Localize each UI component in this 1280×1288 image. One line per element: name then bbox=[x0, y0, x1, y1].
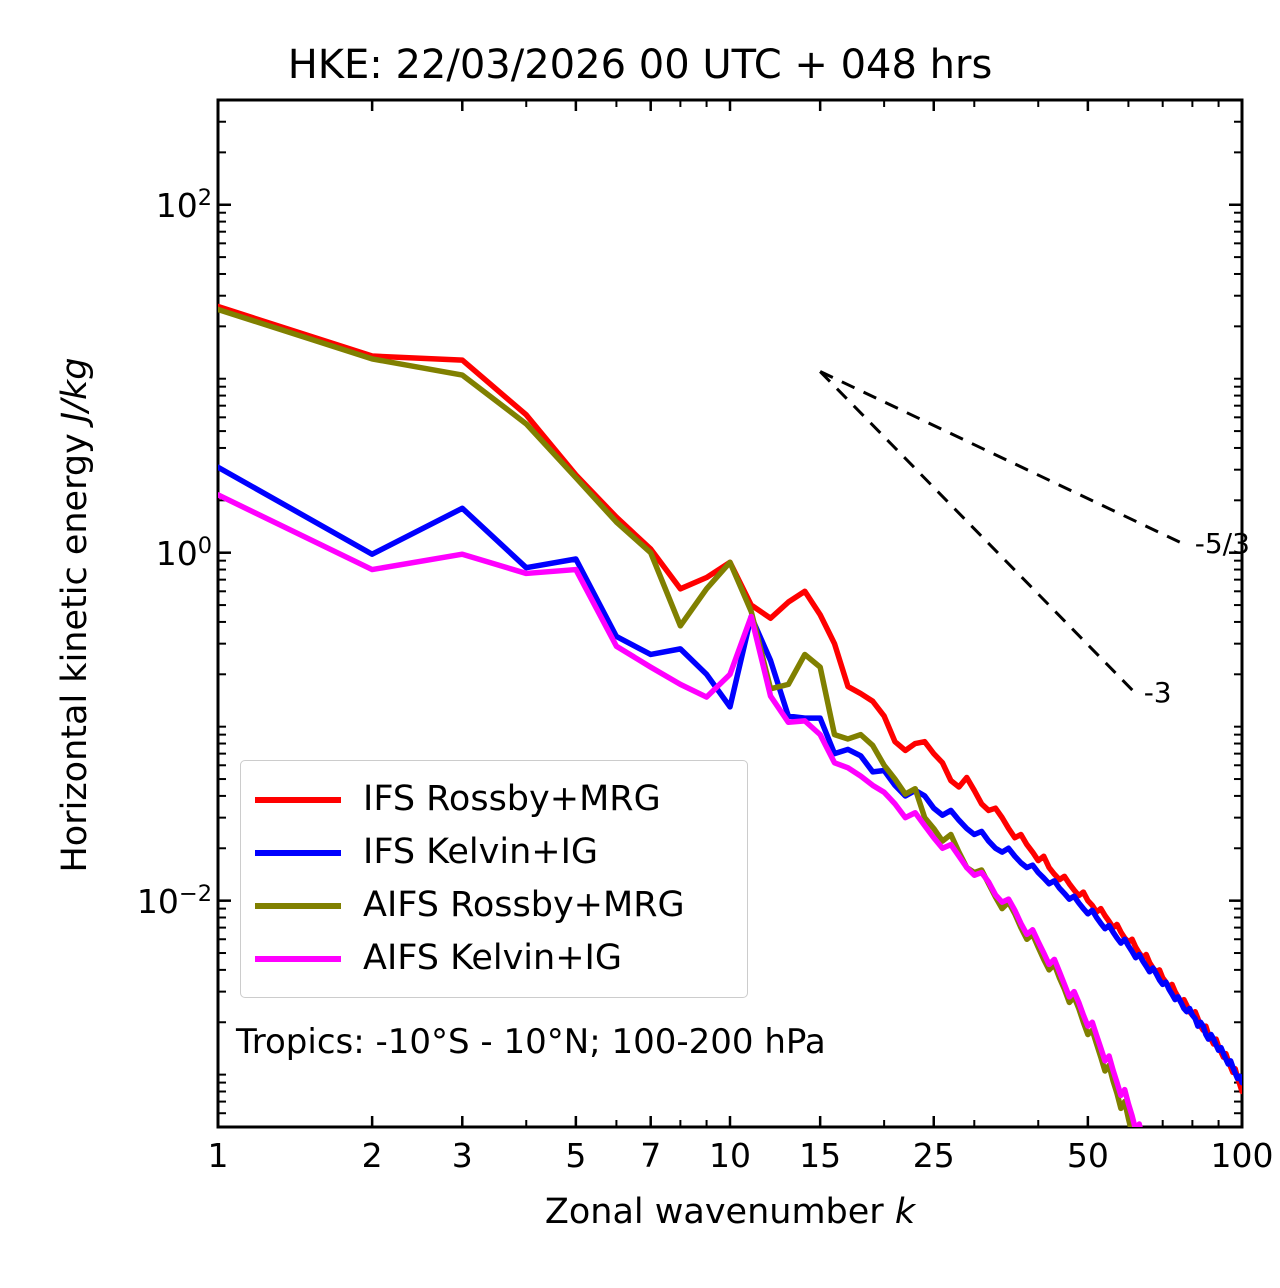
x-tick-label: 2 bbox=[362, 1136, 383, 1175]
x-tick-label: 10 bbox=[709, 1136, 751, 1175]
y-tick-mantissa: 10 bbox=[156, 186, 198, 225]
region-annotation: Tropics: -10°S - 10°N; 100-200 hPa bbox=[236, 1022, 826, 1062]
x-tick-label: 25 bbox=[913, 1136, 955, 1175]
reference-line-label: -5/3 bbox=[1195, 527, 1250, 560]
reference-line-three bbox=[820, 372, 1136, 694]
x-tick-label: 3 bbox=[452, 1136, 473, 1175]
x-tick-label: 100 bbox=[1211, 1136, 1274, 1175]
x-axis-label-symbol: k bbox=[895, 1192, 915, 1232]
y-tick-mantissa: 10 bbox=[137, 882, 179, 921]
legend-item[interactable]: AIFS Kelvin+IG bbox=[255, 932, 731, 985]
y-tick-label: 102 bbox=[156, 185, 212, 225]
legend-item[interactable]: IFS Rossby+MRG bbox=[255, 773, 731, 826]
legend-color-swatch bbox=[255, 797, 341, 803]
legend-item-label: IFS Rossby+MRG bbox=[363, 782, 661, 817]
y-axis-label: Horizontal kinetic energy J/kg bbox=[55, 265, 95, 965]
y-axis-label-unit: J/kg bbox=[55, 357, 95, 422]
legend-item-label: IFS Kelvin+IG bbox=[363, 835, 598, 870]
legend-item-label: AIFS Kelvin+IG bbox=[363, 941, 622, 976]
x-axis-label-text: Zonal wavenumber bbox=[545, 1192, 895, 1232]
y-axis-label-text: Horizontal kinetic energy bbox=[55, 422, 95, 872]
legend-item[interactable]: IFS Kelvin+IG bbox=[255, 826, 731, 879]
y-tick-exponent: −2 bbox=[179, 881, 212, 907]
legend-color-swatch bbox=[255, 956, 341, 962]
y-tick-label: 10−2 bbox=[137, 881, 212, 921]
x-tick-label: 15 bbox=[799, 1136, 841, 1175]
y-tick-label: 100 bbox=[156, 533, 212, 573]
y-tick-mantissa: 10 bbox=[156, 534, 198, 573]
chart-legend: IFS Rossby+MRGIFS Kelvin+IGAIFS Rossby+M… bbox=[240, 760, 748, 998]
x-tick-label: 7 bbox=[640, 1136, 661, 1175]
legend-color-swatch bbox=[255, 850, 341, 856]
x-tick-label: 5 bbox=[565, 1136, 586, 1175]
y-tick-exponent: 2 bbox=[198, 185, 212, 211]
legend-item[interactable]: AIFS Rossby+MRG bbox=[255, 879, 731, 932]
x-axis-label: Zonal wavenumber k bbox=[218, 1192, 1242, 1232]
legend-item-label: AIFS Rossby+MRG bbox=[363, 888, 685, 923]
x-tick-label: 1 bbox=[208, 1136, 229, 1175]
reference-line-five-thirds bbox=[820, 372, 1187, 546]
reference-line-label: -3 bbox=[1144, 676, 1172, 709]
figure-canvas: HKE: 22/03/2026 00 UTC + 048 hrs Horizon… bbox=[0, 0, 1280, 1288]
y-tick-exponent: 0 bbox=[198, 533, 212, 559]
legend-color-swatch bbox=[255, 903, 341, 909]
x-tick-label: 50 bbox=[1067, 1136, 1109, 1175]
